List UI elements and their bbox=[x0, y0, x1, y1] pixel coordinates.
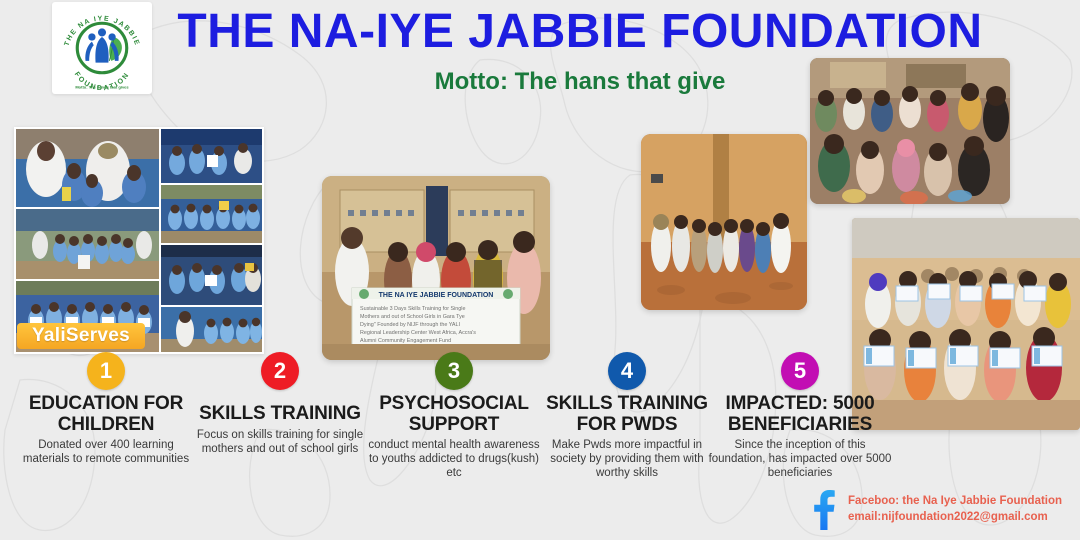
program-title-3: PSYCHOSOCIAL SUPPORT bbox=[362, 394, 546, 435]
program-desc-2: Focus on skills training for single moth… bbox=[188, 428, 372, 456]
page-motto: Motto: The hans that give bbox=[170, 68, 990, 96]
collage-photo-5 bbox=[161, 185, 262, 243]
program-title-2: SKILLS TRAINING bbox=[188, 404, 372, 425]
svg-text:Mothers and out of School Girl: Mothers and out of School Girls in Gara … bbox=[360, 314, 465, 320]
yaliserves-watermark: YaliServes bbox=[17, 323, 145, 349]
program-badge-3: 3 bbox=[435, 352, 473, 390]
collage-photo-4 bbox=[161, 129, 262, 183]
program-item-1[interactable]: 1 EDUCATION FOR CHILDREN Donated over 40… bbox=[14, 352, 198, 466]
svg-text:Alumni Community Engagement Fu: Alumni Community Engagement Fund bbox=[360, 338, 451, 344]
program-badge-5: 5 bbox=[781, 352, 819, 390]
collage-photo-7 bbox=[161, 307, 262, 352]
program-items: 1 EDUCATION FOR CHILDREN Donated over 40… bbox=[0, 352, 1080, 492]
contact-info: Faceboo: the Na Iye Jabbie Foundation em… bbox=[848, 494, 1078, 525]
program-desc-1: Donated over 400 learning materials to r… bbox=[14, 438, 198, 466]
program-title-4: SKILLS TRAINING FOR PWDS bbox=[535, 394, 719, 435]
program-desc-3: conduct mental health awareness to youth… bbox=[362, 438, 546, 480]
svg-text:Dying" Founded by NIJF through: Dying" Founded by NIJF through the YALI bbox=[360, 322, 460, 328]
foundation-logo: THE NA IYE JABBIE FOUNDATION Motto: The … bbox=[52, 2, 152, 94]
page-title: THE NA-IYE JABBIE FOUNDATION bbox=[170, 6, 990, 58]
photo-skills-training-banner: THE NA IYE JABBIE FOUNDATION Sustainable… bbox=[322, 176, 550, 360]
facebook-handle: Faceboo: the Na Iye Jabbie Foundation bbox=[848, 494, 1078, 510]
program-desc-4: Make Pwds more impactful in society by p… bbox=[535, 438, 719, 480]
svg-text:Regional Leadership Center Wes: Regional Leadership Center West Africa, … bbox=[360, 330, 476, 336]
poster-canvas: THE NA IYE JABBIE FOUNDATION Motto: The … bbox=[0, 0, 1080, 540]
program-item-5[interactable]: 5 IMPACTED: 5000 BENEFICIARIES Since the… bbox=[708, 352, 892, 480]
program-item-3[interactable]: 3 PSYCHOSOCIAL SUPPORT conduct mental he… bbox=[362, 352, 546, 480]
program-title-5: IMPACTED: 5000 BENEFICIARIES bbox=[708, 394, 892, 435]
collage-photo-2 bbox=[16, 209, 159, 279]
program-badge-1: 1 bbox=[87, 352, 125, 390]
photo-psychosocial-outreach bbox=[641, 134, 807, 310]
program-badge-4: 4 bbox=[608, 352, 646, 390]
svg-text:THE NA IYE JABBIE FOUNDATION: THE NA IYE JABBIE FOUNDATION bbox=[379, 292, 494, 299]
facebook-icon[interactable] bbox=[806, 486, 840, 530]
logo-tagline: Motto: The hands that gives bbox=[75, 84, 129, 89]
collage-photo-1 bbox=[16, 129, 159, 207]
svg-text:Sustainable 3 Days Skills Trai: Sustainable 3 Days Skills Training for S… bbox=[360, 306, 465, 312]
program-badge-2: 2 bbox=[261, 352, 299, 390]
program-title-1: EDUCATION FOR CHILDREN bbox=[14, 394, 198, 435]
collage-education-photos: YaliServes bbox=[14, 127, 264, 354]
program-item-2[interactable]: 2 SKILLS TRAINING Focus on skills traini… bbox=[188, 352, 372, 456]
program-item-4[interactable]: 4 SKILLS TRAINING FOR PWDS Make Pwds mor… bbox=[535, 352, 719, 480]
email-address: email:nijfoundation2022@gmail.com bbox=[848, 510, 1078, 526]
collage-photo-6 bbox=[161, 245, 262, 305]
program-desc-5: Since the inception of this foundation, … bbox=[708, 438, 892, 480]
